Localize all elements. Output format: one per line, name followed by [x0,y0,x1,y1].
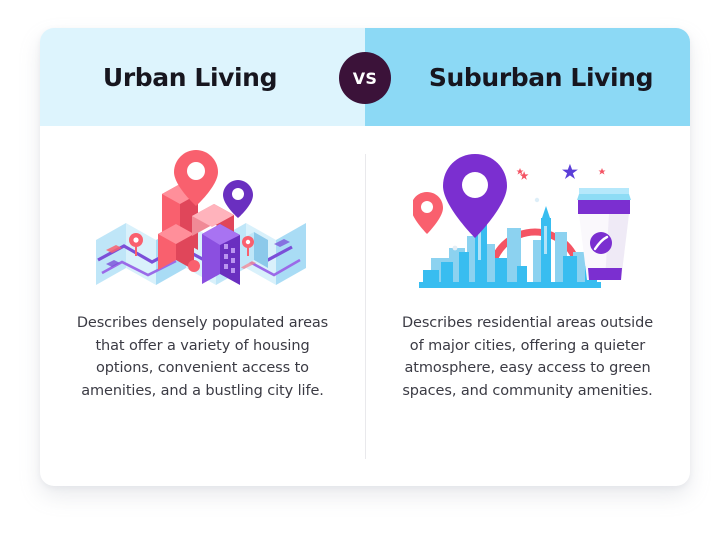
vs-badge: VS [339,52,391,104]
page-root: Urban Living Suburban Living VS [0,0,720,551]
suburban-description: Describes residential areas outside of m… [395,312,661,402]
urban-illustration [83,148,323,298]
suburban-living-title: Suburban Living [392,28,690,126]
suburban-column: Describes residential areas outside of m… [365,126,690,486]
isometric-city-map-icon [88,148,318,298]
urban-living-title: Urban Living [40,28,340,126]
urban-column: Describes densely populated areas that o… [40,126,365,486]
card-header: Urban Living Suburban Living VS [40,28,690,126]
card-body: Describes densely populated areas that o… [40,126,690,486]
suburban-illustration [408,148,648,298]
comparison-card: Urban Living Suburban Living VS [40,28,690,486]
skyline-coffee-icon [413,148,643,298]
urban-description: Describes densely populated areas that o… [75,312,331,402]
